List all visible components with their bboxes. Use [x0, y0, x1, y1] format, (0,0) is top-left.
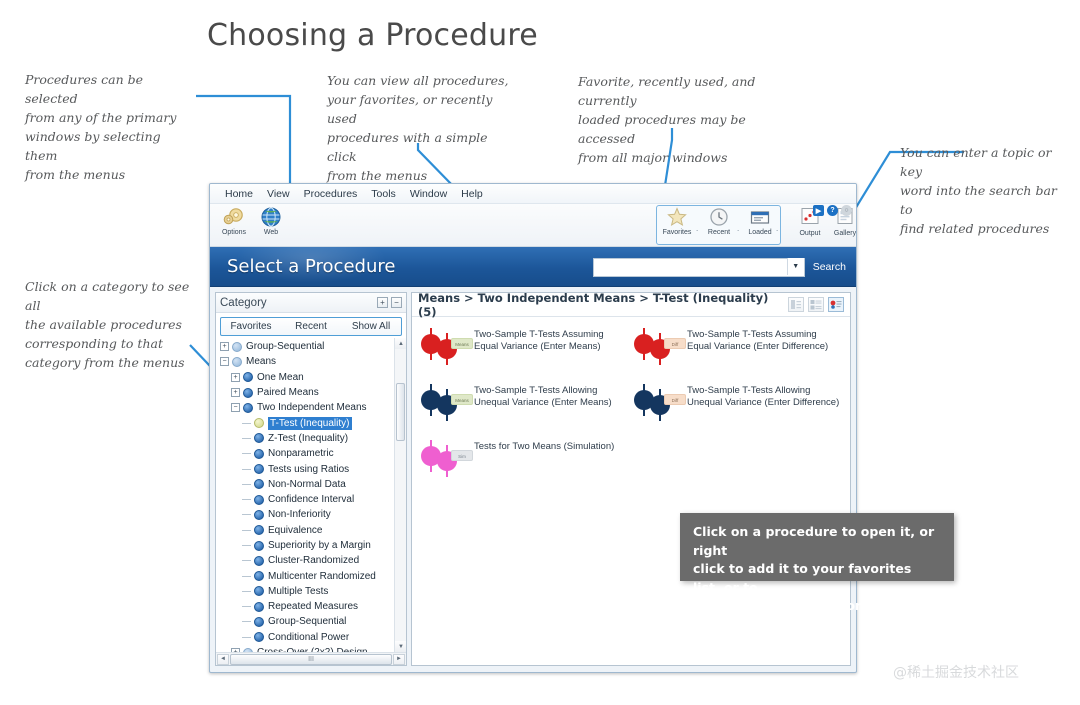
search-button[interactable]: Search	[813, 261, 846, 273]
tree-connector	[242, 514, 251, 515]
tree-node-label: Superiority by a Margin	[268, 540, 371, 551]
tree-node[interactable]: Cluster-Randomized	[216, 553, 406, 568]
tree-connector	[242, 453, 251, 454]
breadcrumb: Means > Two Independent Means > T-Test (…	[418, 291, 784, 319]
tree-node-label: Group-Sequential	[246, 341, 324, 352]
tree-node-bullet-icon	[254, 571, 264, 581]
tree-node-label: T-Test (Inequality)	[268, 417, 352, 430]
tree-node-bullet-icon	[254, 556, 264, 566]
tab-favorites[interactable]: Favorites	[221, 321, 281, 332]
tree-connector	[242, 423, 251, 424]
procedure-item[interactable]: DiffTwo-Sample T-Tests Assuming Equal Va…	[631, 326, 844, 366]
expand-node-icon[interactable]: +	[231, 648, 240, 652]
category-pane: Category + − Favorites Recent Show All +…	[215, 292, 407, 666]
tree-connector	[242, 530, 251, 531]
tree-connector	[242, 469, 251, 470]
tree-node[interactable]: Non-Inferiority	[216, 507, 406, 522]
expand-node-icon[interactable]: +	[220, 342, 229, 351]
tree-node[interactable]: Multicenter Randomized	[216, 568, 406, 583]
tab-show-all[interactable]: Show All	[341, 321, 401, 332]
scrollbar-thumb[interactable]	[396, 383, 405, 441]
expand-all-button[interactable]: +	[377, 297, 388, 308]
search-input[interactable]	[593, 258, 805, 277]
tree-node-label: Confidence Interval	[268, 494, 354, 505]
callout-procedures-menus: Procedures can be selected from any of t…	[25, 70, 195, 184]
web-button[interactable]: Web	[252, 206, 290, 236]
tree-connector	[242, 438, 251, 439]
category-tree-nodes: +Group-Sequential−Means+One Mean+Paired …	[216, 339, 406, 652]
tab-recent[interactable]: Recent	[281, 321, 341, 332]
tree-node-label: Non-Normal Data	[268, 479, 346, 490]
procedure-label: Two-Sample T-Tests Assuming Equal Varian…	[474, 326, 627, 353]
gallery-label: Gallery	[828, 230, 857, 237]
procedure-label: Two-Sample T-Tests Allowing Unequal Vari…	[687, 382, 840, 409]
recent-button[interactable]: Recent	[701, 207, 737, 236]
tree-connector	[242, 606, 251, 607]
procedure-icon: Sim	[418, 438, 474, 478]
tree-node-label: Equivalence	[268, 525, 322, 536]
tree-node-bullet-icon	[254, 449, 264, 459]
procedure-input-tag: Diff	[664, 338, 686, 349]
collapse-all-button[interactable]: −	[391, 297, 402, 308]
tree-node-label: Conditional Power	[268, 632, 349, 643]
scroll-right-arrow-icon[interactable]: ►	[393, 654, 405, 665]
procedure-label: Two-Sample T-Tests Allowing Unequal Vari…	[474, 382, 627, 409]
tree-node-label: Repeated Measures	[268, 601, 358, 612]
window-control-icons: ▶ ? ○	[813, 205, 852, 216]
tree-node[interactable]: +Paired Means	[216, 385, 406, 400]
breadcrumb-row: Means > Two Independent Means > T-Test (…	[412, 293, 850, 317]
tree-node-bullet-icon	[254, 418, 264, 428]
tree-connector	[242, 576, 251, 577]
scroll-down-arrow-icon[interactable]: ▼	[395, 641, 406, 652]
callout-search-bar: You can enter a topic or key word into t…	[900, 143, 1070, 238]
watermark: @稀土掘金技术社区	[893, 662, 1019, 682]
expand-node-icon[interactable]: +	[231, 373, 240, 382]
tree-connector	[242, 621, 251, 622]
tree-node-label: Cluster-Randomized	[268, 555, 359, 566]
tree-node-label: Multiple Tests	[268, 586, 328, 597]
chevron-down-icon[interactable]: ▼	[787, 258, 804, 275]
help-icon[interactable]: ?	[827, 205, 838, 216]
procedure-label: Tests for Two Means (Simulation)	[474, 438, 614, 453]
tree-node-bullet-icon	[254, 602, 264, 612]
favorites-button[interactable]: Favorites	[659, 207, 695, 236]
tree-connector	[242, 499, 251, 500]
category-tree-horizontal-scrollbar[interactable]: ◄ III ►	[216, 652, 406, 665]
tree-node[interactable]: +One Mean	[216, 370, 406, 385]
tree-node[interactable]: Superiority by a Margin	[216, 538, 406, 553]
tree-node[interactable]: Equivalence	[216, 523, 406, 538]
view-mode-details-button[interactable]	[808, 297, 824, 312]
tree-node[interactable]: +Group-Sequential	[216, 339, 406, 354]
star-icon	[659, 207, 695, 229]
clock-icon	[701, 207, 737, 229]
menu-item-window[interactable]: Window	[403, 186, 454, 202]
tree-node-bullet-icon	[254, 617, 264, 627]
tree-node[interactable]: +Cross-Over (2x2) Design	[216, 645, 406, 652]
procedure-item[interactable]: MeansTwo-Sample T-Tests Assuming Equal V…	[418, 326, 631, 366]
procedure-icon: Diff	[631, 382, 687, 422]
tree-node-bullet-icon	[254, 510, 264, 520]
procedure-input-tag: Means	[451, 394, 473, 405]
loaded-label: Loaded	[742, 229, 778, 236]
category-pane-title: Category	[220, 297, 374, 309]
search-combobox[interactable]: ▼	[593, 257, 805, 277]
tree-node[interactable]: Multiple Tests	[216, 584, 406, 599]
tree-node-label: Cross-Over (2x2) Design	[257, 647, 368, 652]
banner-title: Select a Procedure	[227, 256, 395, 277]
scroll-left-arrow-icon[interactable]: ◄	[217, 654, 229, 665]
collapse-node-icon[interactable]: −	[231, 403, 240, 412]
view-mode-large-icons-button[interactable]	[828, 297, 844, 312]
procedure-input-tag: Diff	[664, 394, 686, 405]
tree-node-label: Means	[246, 356, 276, 367]
tree-node-label: Nonparametric	[268, 448, 334, 459]
tree-node-bullet-icon	[254, 464, 264, 474]
tree-node-bullet-icon	[243, 388, 253, 398]
callout-view-procedures: You can view all procedures, your favori…	[327, 71, 512, 185]
menu-item-home[interactable]: Home	[218, 186, 260, 202]
procedure-icon: Means	[418, 382, 474, 422]
recent-label: Recent	[701, 229, 737, 236]
tree-connector	[242, 637, 251, 638]
tree-node-bullet-icon	[254, 495, 264, 505]
procedure-icon: Means	[418, 326, 474, 366]
tree-node-bullet-icon	[254, 479, 264, 489]
procedure-icon: Diff	[631, 326, 687, 366]
tree-connector	[242, 545, 251, 546]
loaded-button[interactable]: Loaded	[742, 207, 778, 236]
search-area: ▼ Search	[593, 257, 846, 277]
category-pane-header: Category + −	[216, 293, 406, 313]
tree-node-label: Tests using Ratios	[268, 464, 349, 475]
menu-item-view[interactable]: View	[260, 186, 297, 202]
tree-node-label: One Mean	[257, 372, 304, 383]
tree-node[interactable]: −Two Independent Means	[216, 400, 406, 415]
view-mode-list-button[interactable]	[788, 297, 804, 312]
tree-node-label: Multicenter Randomized	[268, 571, 376, 582]
tree-connector	[242, 484, 251, 485]
favorites-label: Favorites	[659, 229, 695, 236]
tree-node-bullet-icon	[243, 648, 253, 652]
tree-node[interactable]: Group-Sequential	[216, 614, 406, 629]
tree-node[interactable]: Conditional Power	[216, 630, 406, 645]
scroll-up-arrow-icon[interactable]: ▲	[395, 338, 406, 349]
tree-node[interactable]: Z-Test (Inequality)	[216, 431, 406, 446]
category-filter-tabs: Favorites Recent Show All	[220, 317, 402, 336]
tree-node-bullet-icon	[232, 342, 242, 352]
tree-node-bullet-icon	[254, 541, 264, 551]
tree-node-label: Paired Means	[257, 387, 319, 398]
tree-node[interactable]: T-Test (Inequality)	[216, 415, 406, 430]
procedure-item[interactable]: DiffTwo-Sample T-Tests Allowing Unequal …	[631, 382, 844, 422]
tree-node-bullet-icon	[254, 586, 264, 596]
tree-node[interactable]: Repeated Measures	[216, 599, 406, 614]
gear-icon	[215, 206, 253, 230]
tree-node-label: Two Independent Means	[257, 402, 367, 413]
procedure-item[interactable]: MeansTwo-Sample T-Tests Allowing Unequal…	[418, 382, 631, 422]
quick-access-group: Favorites . Recent .	[656, 205, 781, 245]
globe-icon	[252, 206, 290, 230]
favorites-dropdown-dot[interactable]: .	[696, 224, 698, 233]
tree-node-bullet-icon	[243, 372, 253, 382]
tree-node[interactable]: −Means	[216, 354, 406, 369]
close-icon[interactable]: ○	[841, 205, 852, 216]
procedure-help-tooltip: Click on a procedure to open it, or righ…	[680, 513, 954, 581]
output-label: Output	[793, 230, 827, 237]
select-procedure-banner: Select a Procedure ▼ Search	[210, 247, 856, 287]
video-play-icon[interactable]: ▶	[813, 205, 824, 216]
collapse-node-icon[interactable]: −	[220, 357, 229, 366]
menu-item-help[interactable]: Help	[454, 186, 490, 202]
menu-bar: Home View Procedures Tools Window Help	[210, 184, 856, 204]
tree-node-bullet-icon	[254, 433, 264, 443]
options-button[interactable]: Options	[215, 206, 253, 236]
tree-node[interactable]: Non-Normal Data	[216, 477, 406, 492]
category-tree-vertical-scrollbar[interactable]: ▲ ▼	[394, 338, 406, 652]
tree-node-bullet-icon	[232, 357, 242, 367]
tree-node-bullet-icon	[254, 525, 264, 535]
procedure-item[interactable]: SimTests for Two Means (Simulation)	[418, 438, 631, 478]
tree-node-label: Z-Test (Inequality)	[268, 433, 348, 444]
tree-node-label: Non-Inferiority	[268, 509, 331, 520]
tree-node-bullet-icon	[243, 403, 253, 413]
recent-dropdown-dot[interactable]: .	[737, 224, 739, 233]
loaded-dropdown-dot[interactable]: .	[776, 224, 778, 233]
procedure-input-tag: Sim	[451, 450, 473, 461]
window-stack-icon	[742, 207, 778, 229]
tree-node[interactable]: Nonparametric	[216, 446, 406, 461]
tree-connector	[242, 560, 251, 561]
callout-category-tree: Click on a category to see all the avail…	[25, 277, 200, 372]
tree-node-bullet-icon	[254, 632, 264, 642]
tree-node[interactable]: Tests using Ratios	[216, 461, 406, 476]
menu-item-procedures[interactable]: Procedures	[297, 186, 365, 202]
tree-node[interactable]: Confidence Interval	[216, 492, 406, 507]
tree-connector	[242, 591, 251, 592]
category-tree[interactable]: +Group-Sequential−Means+One Mean+Paired …	[216, 338, 406, 652]
menu-item-tools[interactable]: Tools	[364, 186, 403, 202]
procedure-label: Two-Sample T-Tests Assuming Equal Varian…	[687, 326, 840, 353]
procedure-input-tag: Means	[451, 338, 473, 349]
hscrollbar-thumb[interactable]: III	[230, 654, 392, 665]
callout-favorites-access: Favorite, recently used, and currently l…	[578, 72, 793, 167]
expand-node-icon[interactable]: +	[231, 388, 240, 397]
tree-node-label: Group-Sequential	[268, 616, 346, 627]
